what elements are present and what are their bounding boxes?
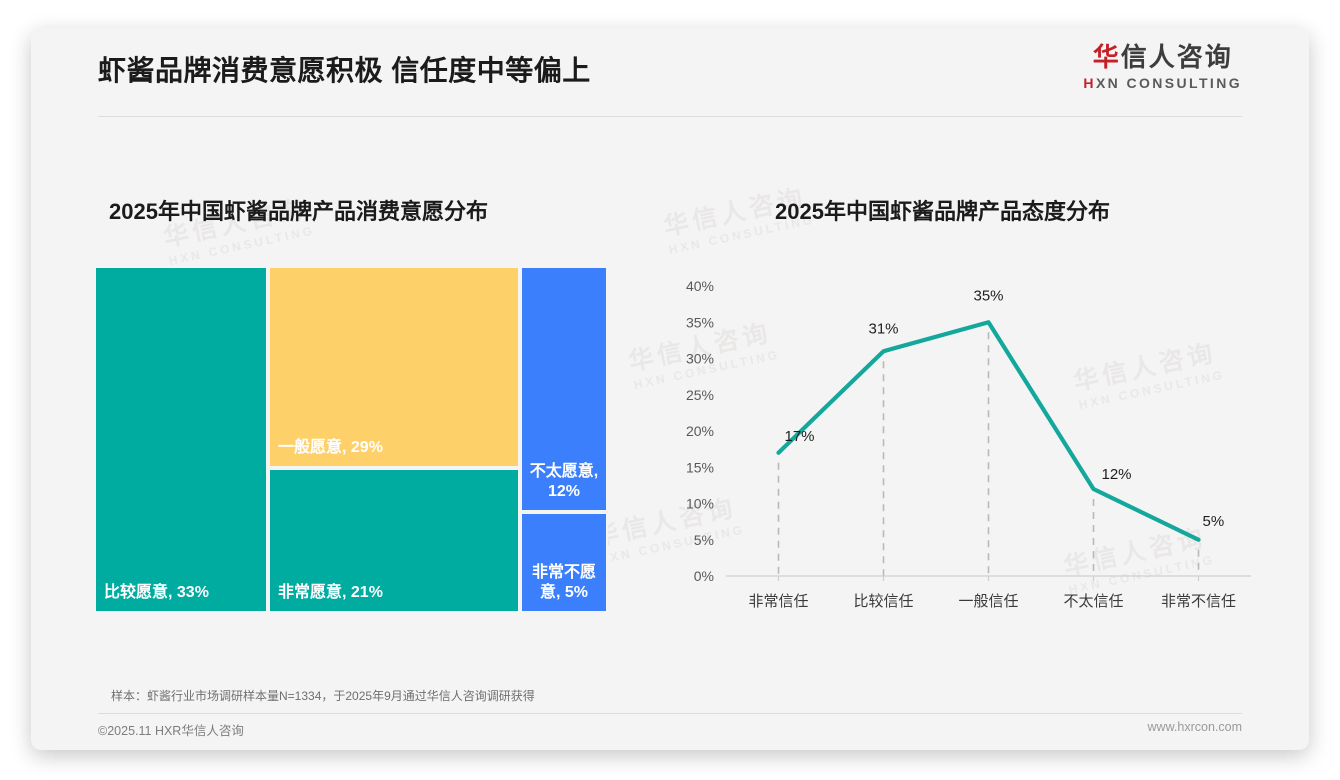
brand-logo-cn-highlight: 华 bbox=[1093, 42, 1121, 72]
brand-logo-english: HXN CONSULTING bbox=[1083, 76, 1242, 90]
brand-attitude-line-chart: 0%5%10%15%20%25%30%35%40% 17%31%35%12%5%… bbox=[651, 266, 1271, 621]
y-axis-tick-label: 20% bbox=[686, 423, 714, 439]
copyright-text: ©2025.11 HXR华信人咨询 bbox=[98, 720, 244, 739]
x-axis-category-label: 不太信任 bbox=[1063, 593, 1123, 610]
vertical-gridlines bbox=[779, 332, 1199, 576]
left-chart-title: 2025年中国虾酱品牌产品消费意愿分布 bbox=[109, 194, 488, 226]
treemap-tile-label: 非常不愿意, 5% bbox=[526, 563, 602, 603]
watermark-en: HXN CONSULTING bbox=[167, 224, 316, 270]
data-point-label: 35% bbox=[973, 287, 1003, 304]
right-chart-title: 2025年中国虾酱品牌产品态度分布 bbox=[775, 194, 1110, 226]
treemap-tile-label: 比较愿意, 33% bbox=[104, 583, 260, 603]
treemap-tile-label: 非常愿意, 21% bbox=[278, 583, 512, 603]
treemap-tile[interactable]: 一般愿意, 29% bbox=[268, 266, 520, 468]
brand-logo: 华信人咨询 HXN CONSULTING bbox=[1083, 44, 1242, 90]
y-axis-tick-label: 40% bbox=[686, 278, 714, 294]
data-point-labels: 17%31%35%12%5% bbox=[785, 287, 1225, 530]
data-point-label: 17% bbox=[785, 428, 815, 445]
y-axis-tick-labels: 0%5%10%15%20%25%30%35%40% bbox=[686, 278, 714, 584]
x-axis-category-label: 非常不信任 bbox=[1161, 593, 1236, 610]
x-axis-category-labels: 非常信任比较信任一般信任不太信任非常不信任 bbox=[748, 592, 1236, 610]
y-axis-tick-label: 25% bbox=[686, 387, 714, 403]
consumption-willingness-treemap: 比较愿意, 33% 一般愿意, 29% 非常愿意, 21% 不太愿意, 12% … bbox=[94, 266, 608, 613]
treemap-tile-label: 不太愿意, 12% bbox=[526, 462, 602, 502]
brand-logo-chinese: 华信人咨询 bbox=[1083, 44, 1242, 70]
x-axis-category-label: 非常信任 bbox=[748, 593, 808, 610]
data-point-label: 31% bbox=[868, 320, 898, 337]
slide-header: 虾酱品牌消费意愿积极 信任度中等偏上 华信人咨询 HXN CONSULTING bbox=[31, 28, 1309, 117]
line-chart-svg: 0%5%10%15%20%25%30%35%40% 17%31%35%12%5%… bbox=[651, 266, 1271, 621]
treemap-tile[interactable]: 非常愿意, 21% bbox=[268, 468, 520, 613]
treemap-tile-label: 一般愿意, 29% bbox=[278, 438, 512, 458]
footer-divider bbox=[98, 713, 1242, 714]
x-axis-category-label: 比较信任 bbox=[853, 592, 913, 610]
page-title: 虾酱品牌消费意愿积极 信任度中等偏上 bbox=[98, 49, 591, 89]
slide-card: 虾酱品牌消费意愿积极 信任度中等偏上 华信人咨询 HXN CONSULTING … bbox=[31, 28, 1309, 750]
brand-logo-cn-rest: 信人咨询 bbox=[1121, 42, 1233, 72]
y-axis-tick-label: 35% bbox=[686, 314, 714, 330]
y-axis-tick-label: 30% bbox=[686, 351, 714, 367]
data-point-label: 5% bbox=[1203, 513, 1225, 530]
y-axis-tick-label: 5% bbox=[694, 532, 714, 548]
website-url[interactable]: www.hxrcon.com bbox=[1148, 720, 1242, 734]
brand-logo-en-rest: XN CONSULTING bbox=[1096, 75, 1242, 91]
header-divider bbox=[98, 116, 1242, 117]
x-axis-ticks bbox=[779, 576, 1199, 581]
data-point-label: 12% bbox=[1102, 466, 1132, 483]
brand-logo-en-highlight: H bbox=[1083, 75, 1096, 91]
y-axis-tick-label: 15% bbox=[686, 459, 714, 475]
treemap-tile[interactable]: 不太愿意, 12% bbox=[520, 266, 608, 512]
treemap-tile[interactable]: 比较愿意, 33% bbox=[94, 266, 268, 613]
treemap-tile[interactable]: 非常不愿意, 5% bbox=[520, 512, 608, 613]
x-axis-category-label: 一般信任 bbox=[958, 593, 1018, 610]
y-axis-tick-label: 0% bbox=[694, 568, 714, 584]
sample-footnote: 样本：虾酱行业市场调研样本量N=1334，于2025年9月通过华信人咨询调研获得 bbox=[111, 687, 535, 704]
y-axis-tick-label: 10% bbox=[686, 496, 714, 512]
